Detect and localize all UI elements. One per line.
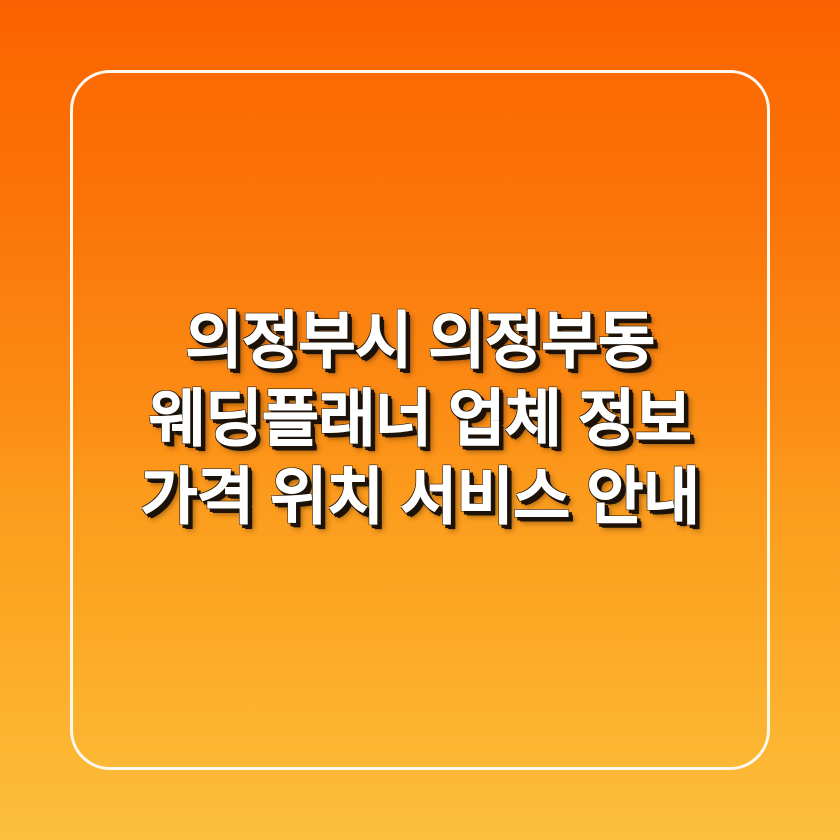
headline-line-1: 의정부시 의정부동 <box>84 303 756 381</box>
headline-block: 의정부시 의정부동 웨딩플래너 업체 정보 가격 위치 서비스 안내 <box>0 0 840 840</box>
headline-line-3: 가격 위치 서비스 안내 <box>84 459 756 537</box>
poster-canvas: 의정부시 의정부동 웨딩플래너 업체 정보 가격 위치 서비스 안내 <box>0 0 840 840</box>
headline-line-2: 웨딩플래너 업체 정보 <box>84 381 756 459</box>
